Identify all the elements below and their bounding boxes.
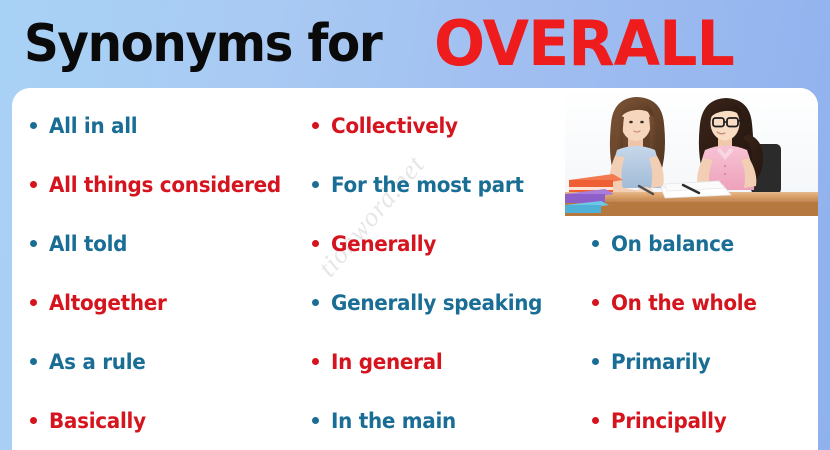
list-item-label: For the most part <box>331 175 524 196</box>
list-item-label: On balance <box>611 234 734 255</box>
list-item-label: Collectively <box>331 116 458 137</box>
list-item: In general <box>312 352 448 373</box>
content-panel: tionword.net All in allAll things consid… <box>12 88 818 450</box>
page-title-keyword: OVERALL <box>434 13 734 75</box>
synonyms-poster: Synonyms for OVERALL <box>0 0 830 450</box>
list-item-label: All told <box>49 234 127 255</box>
list-item: All told <box>30 234 131 255</box>
list-item-label: Primarily <box>611 352 711 373</box>
list-item-label: On the whole <box>611 293 757 314</box>
list-item-label: In the main <box>331 411 456 432</box>
list-item: Primarily <box>592 352 716 373</box>
bullet-icon <box>592 240 599 247</box>
bullet-icon <box>30 299 37 306</box>
list-item-label: In general <box>331 352 442 373</box>
list-item: In the main <box>312 411 463 432</box>
page-title: Synonyms for <box>24 18 381 70</box>
bullet-icon <box>312 358 319 365</box>
bullet-icon <box>30 358 37 365</box>
list-item: For the most part <box>312 175 534 196</box>
list-item-label: Generally speaking <box>331 293 542 314</box>
list-item-label: All things considered <box>49 175 281 196</box>
list-item-label: All in all <box>49 116 137 137</box>
bullet-icon <box>312 299 319 306</box>
bullet-icon <box>30 417 37 424</box>
poster-header: Synonyms for OVERALL <box>0 0 830 88</box>
list-item: As a rule <box>30 352 151 373</box>
list-item: Collectively <box>312 116 464 137</box>
list-item: Basically <box>30 411 151 432</box>
list-item-label: Principally <box>611 411 726 432</box>
bullet-icon <box>592 299 599 306</box>
bullet-icon <box>30 122 37 129</box>
list-item: All in all <box>30 116 142 137</box>
list-item: Generally speaking <box>312 293 553 314</box>
bullet-icon <box>312 417 319 424</box>
list-item: On balance <box>592 234 740 255</box>
bullet-icon <box>312 240 319 247</box>
list-item: Altogether <box>30 293 173 314</box>
list-item: Generally <box>312 234 442 255</box>
bullet-icon <box>30 181 37 188</box>
list-item: All things considered <box>30 175 293 196</box>
bullet-icon <box>30 240 37 247</box>
synonym-columns: All in allAll things consideredAll toldA… <box>12 88 818 450</box>
bullet-icon <box>312 181 319 188</box>
list-item-label: As a rule <box>49 352 146 373</box>
list-item-label: Altogether <box>49 293 167 314</box>
bullet-icon <box>592 417 599 424</box>
bullet-icon <box>312 122 319 129</box>
list-item-label: Generally <box>331 234 436 255</box>
list-item-label: Basically <box>49 411 146 432</box>
bullet-icon <box>592 358 599 365</box>
list-item: On the whole <box>592 293 764 314</box>
list-item: Principally <box>592 411 733 432</box>
